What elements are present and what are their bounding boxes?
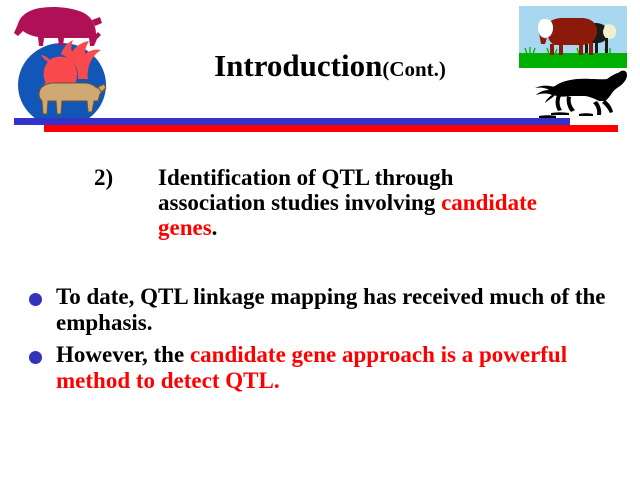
divider-bar-blue [14, 118, 570, 125]
cattle-pasture-photo [519, 6, 627, 68]
item-number: 2) [94, 165, 158, 190]
bullet-text: However, the candidate gene approach is … [56, 342, 567, 393]
galloping-horse-silhouette [521, 68, 631, 124]
livestock-emblem [4, 2, 124, 130]
pig-icon [14, 7, 102, 46]
numbered-item-2: 2) Identification of QTL through associa… [94, 165, 564, 240]
item-text: Identification of QTL through associatio… [158, 165, 564, 240]
divider-bar-red [44, 125, 618, 132]
slide-body: 2) Identification of QTL through associa… [0, 136, 640, 480]
item-text-before: Identification of QTL through associatio… [158, 165, 453, 215]
page-title-sub: (Cont.) [382, 57, 446, 81]
bullet-marker-icon [29, 351, 42, 364]
header-artwork [519, 6, 631, 124]
list-item: However, the candidate gene approach is … [28, 342, 628, 394]
bullet-list: To date, QTL linkage mapping has receive… [28, 284, 628, 400]
item-text-after: . [212, 215, 218, 240]
bullet-text-before: To date, QTL linkage mapping has receive… [56, 284, 606, 335]
bullet-text-before: However, the [56, 342, 190, 367]
list-item: To date, QTL linkage mapping has receive… [28, 284, 628, 336]
bullet-marker-icon [29, 293, 42, 306]
slide-header: Introduction(Cont.) [0, 0, 640, 136]
page-title: Introduction(Cont.) [150, 48, 510, 84]
pasture-grass [519, 53, 627, 68]
bullet-text: To date, QTL linkage mapping has receive… [56, 284, 606, 335]
page-title-main: Introduction [214, 48, 382, 83]
